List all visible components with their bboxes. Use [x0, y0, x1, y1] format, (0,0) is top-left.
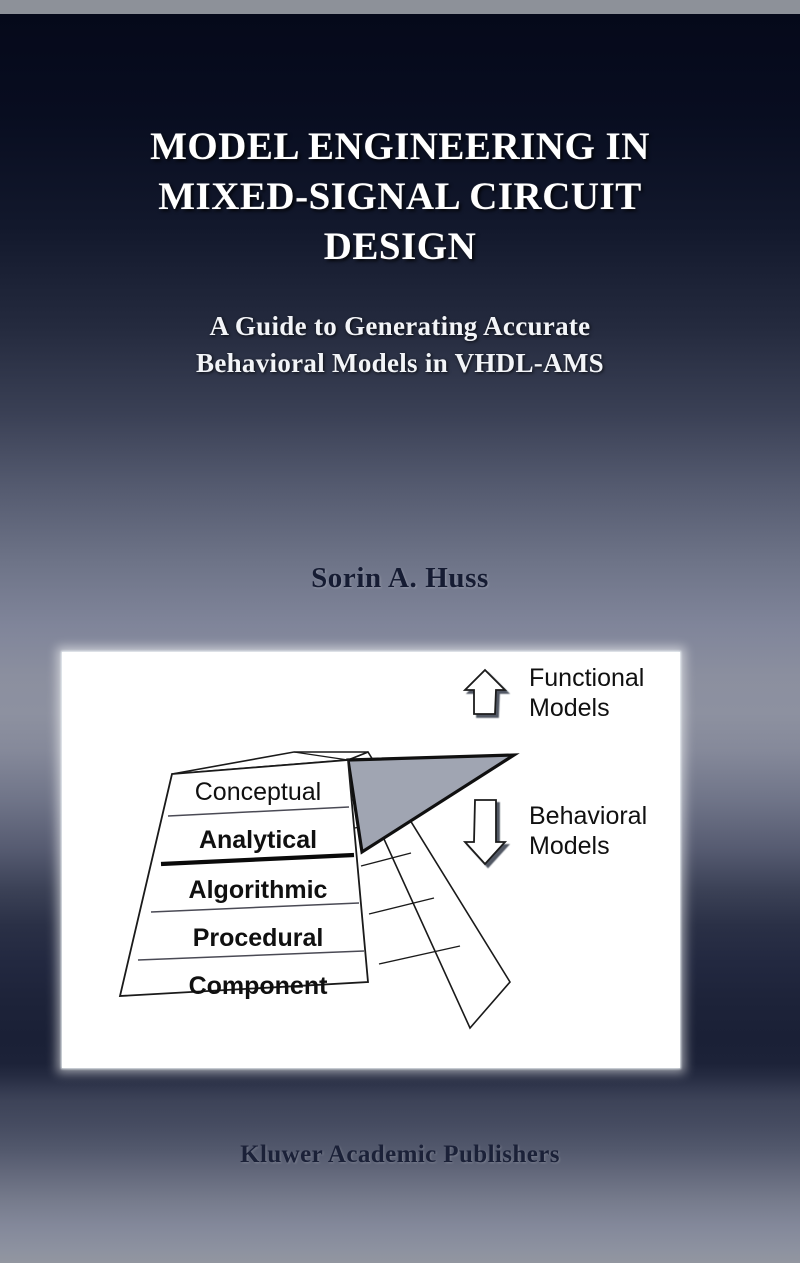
book-title: MODEL ENGINEERING IN MIXED-SIGNAL CIRCUI… [0, 122, 800, 272]
pyramid-layer-label-algorithmic: Algorithmic [189, 876, 328, 904]
book-subtitle: A Guide to Generating Accurate Behaviora… [0, 308, 800, 382]
pyramid-layer-label-component: Component [189, 972, 329, 1000]
pyramid-layer-label-analytical: Analytical [199, 826, 317, 854]
cover-top-band [0, 0, 800, 14]
subtitle-line-1: A Guide to Generating Accurate [0, 308, 800, 345]
author-name: Sorin A. Huss [311, 562, 489, 594]
pyramid-layer-label-conceptual: Conceptual [195, 778, 321, 806]
book-author: Sorin A. Huss [0, 562, 800, 595]
book-publisher: Kluwer Academic Publishers [0, 1141, 800, 1169]
functional-models-label-line2: Models [529, 694, 610, 722]
behavioral-models-label-line1: Behavioral [529, 802, 647, 830]
title-line-1: MODEL ENGINEERING IN [0, 122, 800, 172]
cover-diagram-panel: Conceptual Analytical Algorithmic Proced… [62, 652, 680, 1068]
publisher-name: Kluwer Academic Publishers [240, 1141, 560, 1168]
title-line-2: MIXED-SIGNAL CIRCUIT [0, 172, 800, 222]
functional-models-label-line1: Functional [529, 664, 644, 692]
pyramid-layer-label-procedural: Procedural [193, 924, 324, 952]
book-cover: MODEL ENGINEERING IN MIXED-SIGNAL CIRCUI… [0, 0, 800, 1263]
behavioral-models-label-line2: Models [529, 832, 610, 860]
subtitle-line-2: Behavioral Models in VHDL-AMS [0, 345, 800, 382]
title-line-3: DESIGN [0, 222, 800, 272]
